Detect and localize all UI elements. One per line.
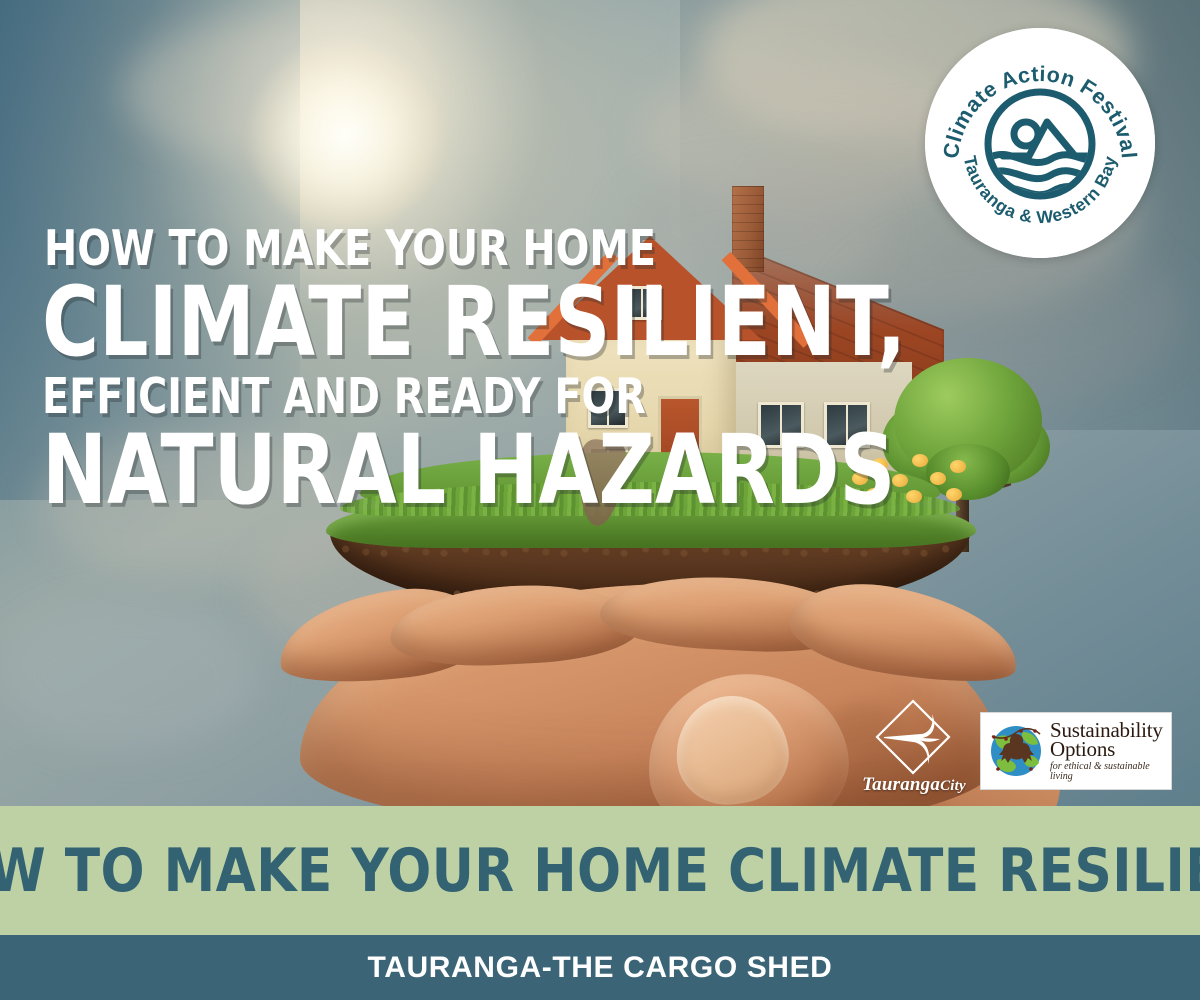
event-poster: HOW TO MAKE YOUR HOME CLIMATE RESILIENT,… [0, 0, 1200, 1000]
cloud [0, 600, 260, 750]
so-line-2: Options [1050, 739, 1165, 760]
event-venue-band: TAURANGA-THE CARGO SHED [0, 935, 1200, 1000]
so-tagline: for ethical & sustainable living [1050, 762, 1165, 782]
tauranga-city-diamond-icon [874, 698, 952, 776]
headline-line-4: NATURAL HAZARDS [42, 420, 834, 520]
sun-glow [250, 40, 440, 230]
tcc-name-part2: City [940, 778, 966, 794]
event-venue-text: TAURANGA-THE CARGO SHED [368, 951, 833, 985]
headline-line-2: CLIMATE RESILIENT, [42, 272, 834, 372]
globe-frog-icon [987, 722, 1045, 780]
event-title-text: HOW TO MAKE YOUR HOME CLIMATE RESILIENT [0, 841, 1200, 901]
event-title-band: HOW TO MAKE YOUR HOME CLIMATE RESILIENT [0, 806, 1200, 935]
sponsor-sustainability-options[interactable]: Sustainability Options for ethical & sus… [980, 712, 1172, 790]
sponsor-sustainability-options-text: Sustainability Options for ethical & sus… [1050, 720, 1165, 782]
climate-action-festival-logo[interactable]: Climate Action Festival Tauranga & Weste… [925, 28, 1155, 258]
sponsor-tauranga-city-name: TaurangaCity [858, 774, 970, 796]
sponsor-tauranga-city[interactable]: TaurangaCity [858, 698, 970, 806]
tcc-name-part1: Tauranga [862, 774, 940, 795]
poster-headline: HOW TO MAKE YOUR HOME CLIMATE RESILIENT,… [42, 222, 922, 520]
